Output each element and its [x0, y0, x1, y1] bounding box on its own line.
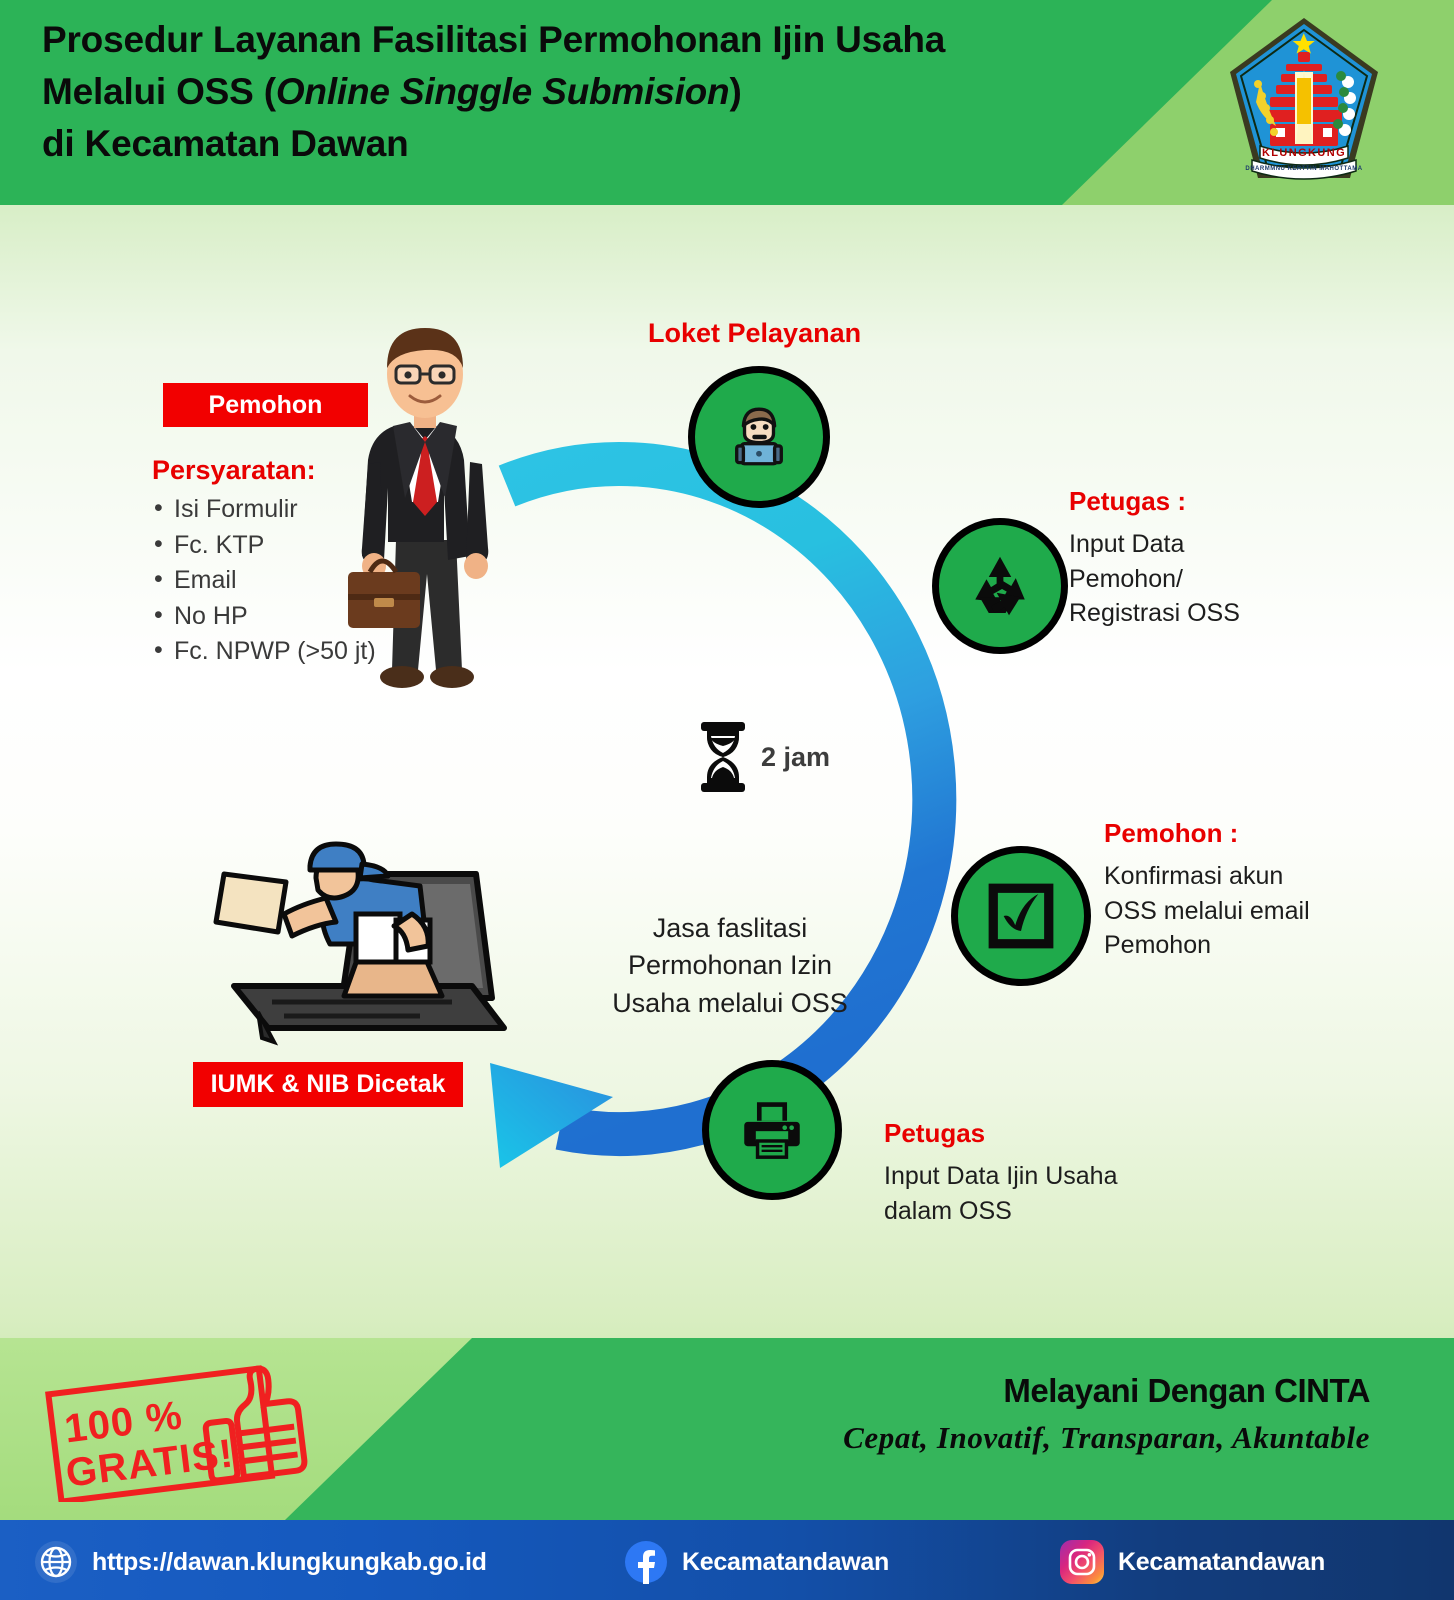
title-line-2-suffix: )	[729, 71, 741, 112]
businessman-illustration	[330, 322, 520, 704]
slogan-main: Melayani Dengan CINTA	[750, 1372, 1370, 1410]
title-line-2-italic: Online Singgle Submision	[276, 71, 730, 112]
page-title: Prosedur Layanan Fasilitasi Permohonan I…	[42, 14, 1072, 169]
facebook-label: Kecamatandawan	[682, 1548, 889, 1577]
step-node-konfirmasi[interactable]	[951, 846, 1091, 986]
step-label-cetak: Petugas	[884, 1118, 1204, 1149]
step-body-line: Registrasi OSS	[1069, 596, 1369, 631]
instagram-icon	[1060, 1540, 1104, 1584]
center-caption: Jasa faslitasi Permohonan Izin Usaha mel…	[580, 910, 880, 1022]
step-text-konfirmasi: Pemohon : Konfirmasi akun OSS melalui em…	[1104, 818, 1404, 963]
title-line-3: di Kecamatan Dawan	[42, 123, 409, 164]
instagram-label: Kecamatandawan	[1118, 1548, 1325, 1577]
step-body-line: OSS melalui email	[1104, 894, 1404, 929]
hourglass-icon	[697, 720, 749, 794]
step-text-cetak: Petugas Input Data Ijin Usaha dalam OSS	[884, 1118, 1204, 1228]
caption-line: Permohonan Izin	[580, 947, 880, 984]
output-badge: IUMK & NIB Dicetak	[193, 1062, 463, 1107]
duration-indicator: 2 jam	[697, 720, 830, 794]
step-body-line: Pemohon	[1104, 928, 1404, 963]
svg-text:KLUNGKUNG: KLUNGKUNG	[1262, 147, 1346, 159]
delivery-laptop-illustration	[212, 836, 512, 1062]
facebook-icon	[624, 1540, 668, 1584]
checkbox-check-icon	[984, 879, 1058, 953]
step-text-registrasi: Petugas : Input Data Pemohon/ Registrasi…	[1069, 486, 1369, 631]
step-body-line: Input Data Ijin Usaha	[884, 1159, 1204, 1194]
printer-icon	[735, 1093, 809, 1167]
step-label-loket: Loket Pelayanan	[648, 318, 861, 349]
title-line-1: Prosedur Layanan Fasilitasi Permohonan I…	[42, 19, 945, 60]
step-body-line: Pemohon/	[1069, 562, 1369, 597]
service-slogan: Melayani Dengan CINTA Cepat, Inovatif, T…	[750, 1372, 1370, 1456]
caption-line: Usaha melalui OSS	[580, 985, 880, 1022]
instagram-link[interactable]: Kecamatandawan	[1060, 1540, 1325, 1584]
caption-line: Jasa faslitasi	[580, 910, 880, 947]
step-body-line: Input Data	[1069, 527, 1369, 562]
website-link[interactable]: https://dawan.klungkungkab.go.id	[34, 1540, 487, 1584]
free-of-charge-stamp: 100 % GRATIS!	[40, 1362, 330, 1502]
step-label-konfirmasi: Pemohon :	[1104, 818, 1404, 849]
recycle-icon	[964, 550, 1036, 622]
step-node-loket[interactable]	[688, 366, 830, 508]
step-body-line: dalam OSS	[884, 1194, 1204, 1229]
infographic-poster: Prosedur Layanan Fasilitasi Permohonan I…	[0, 0, 1454, 1600]
facebook-link[interactable]: Kecamatandawan	[624, 1540, 889, 1584]
step-body-line: Konfirmasi akun	[1104, 859, 1404, 894]
svg-text:DHARMMNU KERTTIN MAHOTTAMA: DHARMMNU KERTTIN MAHOTTAMA	[1245, 166, 1362, 172]
website-label: https://dawan.klungkungkab.go.id	[92, 1548, 487, 1577]
step-label-registrasi: Petugas :	[1069, 486, 1369, 517]
klungkung-emblem-icon: KLUNGKUNG DHARMMNU KERTTIN MAHOTTAMA	[1224, 12, 1384, 190]
service-desk-operator-icon	[720, 398, 798, 476]
globe-icon	[34, 1540, 78, 1584]
slogan-sub: Cepat, Inovatif, Transparan, Akuntable	[750, 1420, 1370, 1456]
title-line-2-prefix: Melalui OSS (	[42, 71, 276, 112]
duration-label: 2 jam	[761, 742, 830, 773]
step-node-registrasi[interactable]	[932, 518, 1068, 654]
step-node-cetak[interactable]	[702, 1060, 842, 1200]
